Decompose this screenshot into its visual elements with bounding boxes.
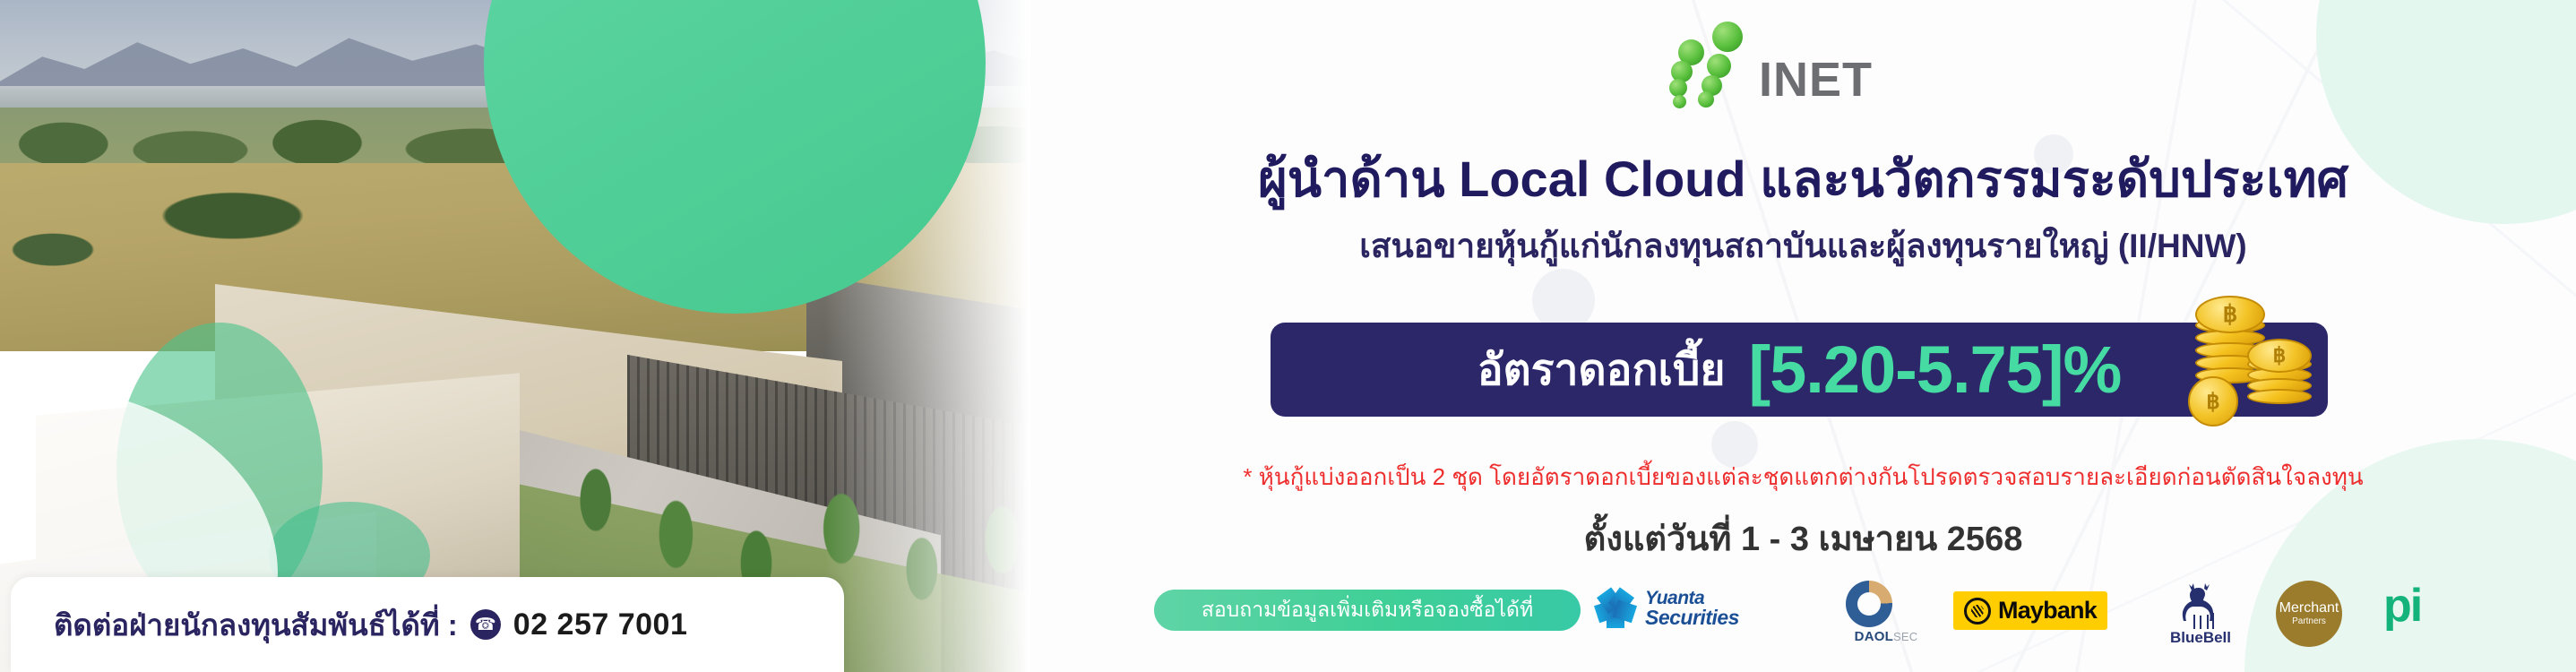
partner-yuanta[interactable]: Yuanta Securities bbox=[1595, 588, 1739, 629]
maybank-wordmark: Maybank bbox=[1998, 597, 2097, 625]
inquiry-cta-button[interactable]: สอบถามข้อมูลเพิ่มเติมหรือจองซื้อได้ที่ bbox=[1154, 590, 1581, 631]
merchant-name-line2: Partners bbox=[2292, 616, 2326, 626]
contact-phone-number[interactable]: 02 257 7001 bbox=[513, 607, 688, 642]
page-title: ผู้นำด้าน Local Cloud และนวัตกรรมระดับปร… bbox=[1030, 151, 2576, 208]
inet-wordmark: INET bbox=[1759, 52, 1873, 108]
coin-symbol-front: ฿ bbox=[2190, 378, 2236, 425]
interest-rate-panel: อัตราดอกเบี้ย [5.20-5.75]% ฿ ฿ ฿ bbox=[1271, 323, 2328, 417]
interest-rate-label: อัตราดอกเบี้ย bbox=[1478, 336, 1726, 404]
gold-coins-icon: ฿ ฿ ฿ bbox=[2175, 290, 2346, 438]
coin-symbol-mid: ฿ bbox=[2249, 340, 2310, 371]
maybank-tiger-icon bbox=[1964, 598, 1991, 625]
partner-daol[interactable]: DAOLSEC bbox=[1846, 581, 1926, 627]
merchant-name-line1: Merchant bbox=[2279, 601, 2339, 616]
page-subtitle: เสนอขายหุ้นกู้แก่นักลงทุนสถาบันและผู้ลงท… bbox=[1030, 220, 2576, 272]
daol-circle-icon bbox=[1846, 581, 1892, 627]
partner-maybank[interactable]: Maybank bbox=[1953, 591, 2107, 630]
daol-name-line1: DAOL bbox=[1855, 629, 1893, 644]
yuanta-star-icon bbox=[1595, 588, 1636, 629]
inet-bond-offering-banner: INET ผู้นำด้าน Local Cloud และนวัตกรรมระ… bbox=[0, 0, 2576, 672]
inet-logo: INET bbox=[1653, 20, 1940, 100]
bluebell-deer-icon bbox=[2177, 582, 2224, 631]
daol-name-line2: SEC bbox=[1893, 630, 1917, 643]
partner-bluebell[interactable]: BlueBell bbox=[2159, 581, 2242, 647]
bluebell-wordmark: BlueBell bbox=[2159, 629, 2242, 647]
yuanta-name-line1: Yuanta bbox=[1645, 589, 1739, 607]
yuanta-name-line2: Securities bbox=[1645, 607, 1739, 628]
phone-icon: ☎ bbox=[470, 609, 501, 640]
investor-relations-contact-bar: ติดต่อฝ่ายนักลงทุนสัมพันธ์ได้ที่ : ☎ 02 … bbox=[11, 577, 844, 672]
offering-date-range: ตั้งแต่วันที่ 1 - 3 เมษายน 2568 bbox=[1030, 511, 2576, 565]
partner-logo-row: Yuanta Securities DAOLSEC Maybank bbox=[1595, 573, 2491, 654]
partner-merchant[interactable]: Merchant Partners bbox=[2276, 581, 2342, 647]
inet-dots-logo-icon bbox=[1660, 20, 1759, 102]
partner-pi[interactable]: pi bbox=[2383, 588, 2421, 625]
interest-rate-value: [5.20-5.75]% bbox=[1749, 332, 2122, 408]
pi-wordmark-icon: pi bbox=[2383, 588, 2421, 625]
disclaimer-note: * หุ้นกู้แบ่งออกเป็น 2 ชุด โดยอัตราดอกเบ… bbox=[1030, 459, 2576, 495]
contact-label: ติดต่อฝ่ายนักลงทุนสัมพันธ์ได้ที่ : bbox=[54, 601, 458, 649]
daol-wordmark: DAOLSEC bbox=[1846, 629, 1926, 644]
coin-symbol-top: ฿ bbox=[2197, 297, 2263, 332]
